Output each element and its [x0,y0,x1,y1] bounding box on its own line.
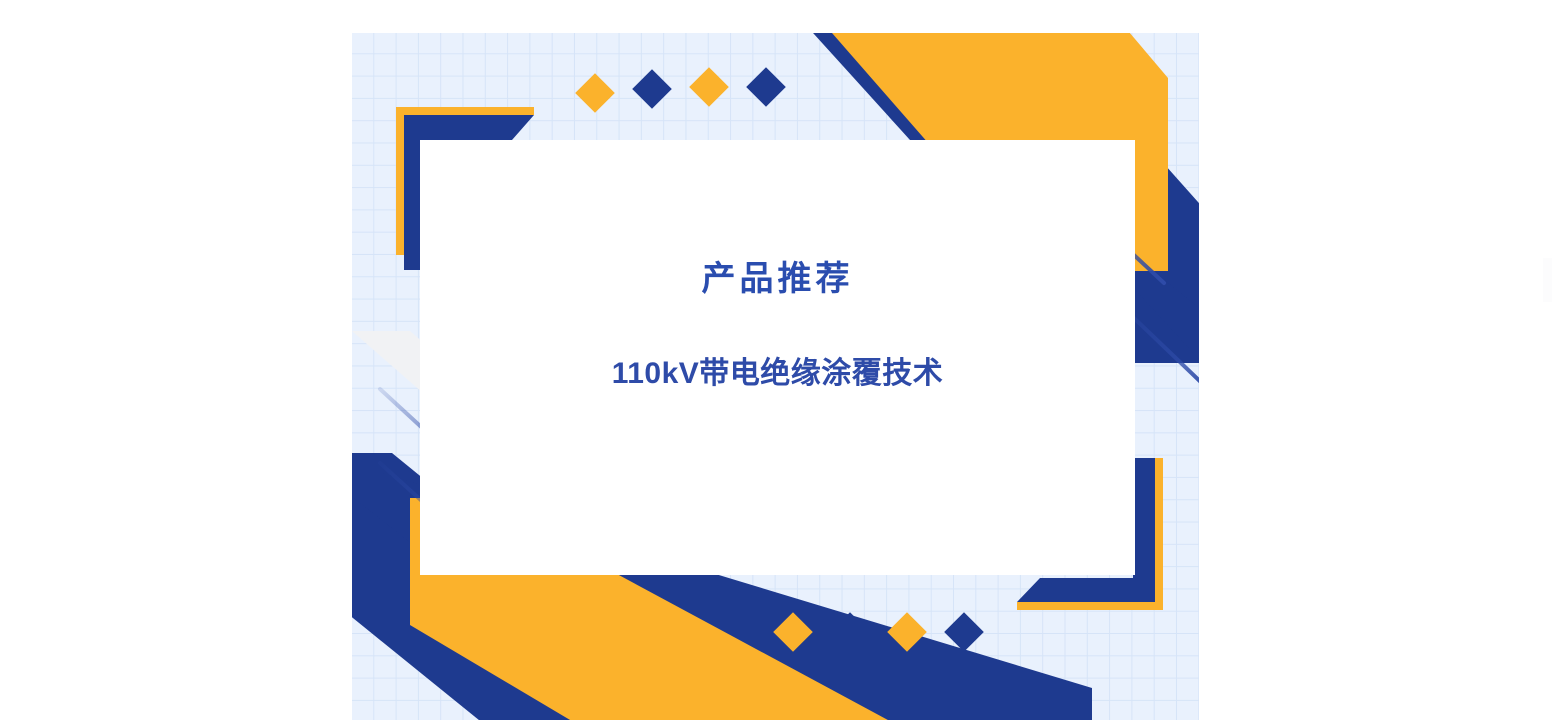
diamond-top-2-navy [632,69,672,109]
corner-bracket-bottom-right-navy-fill [1133,458,1155,602]
content-card: 产品推荐 110kV带电绝缘涂覆技术 [420,140,1135,575]
slide-surface: 产品推荐 110kV带电绝缘涂覆技术 [352,33,1199,720]
title-block: 产品推荐 110kV带电绝缘涂覆技术 [420,140,1135,575]
screenshot-canvas: 产品推荐 110kV带电绝缘涂覆技术 [0,0,1552,720]
page-subtitle: 110kV带电绝缘涂覆技术 [612,357,944,390]
diamond-row-top [575,67,786,113]
right-edge-artifact [1543,258,1552,302]
diamond-top-3-yellow [689,67,729,107]
diamond-top-4-navy [746,67,786,107]
page-title: 产品推荐 [702,261,854,298]
diamond-top-1-yellow [575,73,615,113]
